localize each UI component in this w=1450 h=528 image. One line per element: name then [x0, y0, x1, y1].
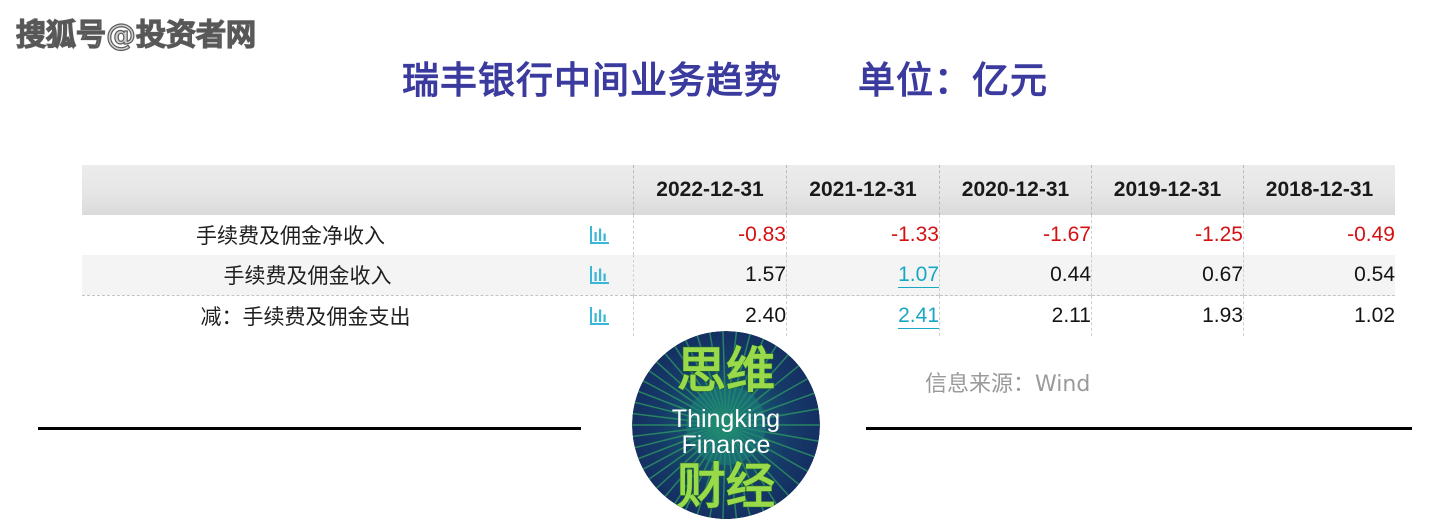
watermark-sohu: 搜狐号@投资者网: [16, 10, 256, 54]
logo-text-caijing: 财经: [677, 458, 775, 515]
cell-2019-fee-expense: 1.93: [1092, 296, 1244, 337]
row-label-less-fee-commission-expense: 减：手续费及佣金支出: [171, 301, 411, 331]
row-label-cell: 手续费及佣金收入: [82, 255, 634, 296]
logo-thingking-finance: 思维 Thingking Finance 财经: [632, 331, 820, 519]
column-header-2021[interactable]: 2021-12-31: [787, 165, 940, 215]
column-header-2022[interactable]: 2022-12-31: [634, 165, 787, 215]
cell-2018-net-fee: -0.49: [1244, 215, 1396, 255]
cell-2018-fee-expense: 1.02: [1244, 296, 1396, 337]
row-label-fee-commission-income: 手续费及佣金收入: [190, 260, 392, 290]
column-header-label: [82, 165, 634, 215]
page-title: 瑞丰银行中间业务趋势 单位：亿元: [0, 50, 1450, 104]
column-header-2018[interactable]: 2018-12-31: [1244, 165, 1396, 215]
table-row: 手续费及佣金净收入 -0.83 -1.33 -1.67 -1.25 -: [82, 215, 1395, 255]
cell-2018-fee-income: 0.54: [1244, 255, 1396, 296]
cell-2020-fee-expense: 2.11: [940, 296, 1092, 337]
table-row: 手续费及佣金收入 1.57 1.07 0.44 0.67 0.54: [82, 255, 1395, 296]
row-label-net-fee-commission-income: 手续费及佣金净收入: [196, 220, 385, 250]
cell-2021-net-fee: -1.33: [787, 215, 940, 255]
logo-text-thingking: Thingking: [672, 405, 780, 433]
divider-right: [866, 427, 1412, 430]
table-header-row: 2022-12-31 2021-12-31 2020-12-31 2019-12…: [82, 165, 1395, 215]
logo-text-finance: Finance: [682, 431, 771, 459]
cell-2019-net-fee: -1.25: [1092, 215, 1244, 255]
bar-chart-icon[interactable]: [589, 264, 611, 286]
cell-2021-fee-expense[interactable]: 2.41: [787, 296, 940, 337]
cell-2022-fee-income: 1.57: [634, 255, 787, 296]
logo-text-siwei: 思维: [677, 342, 775, 399]
row-label-cell: 手续费及佣金净收入: [82, 215, 634, 255]
cell-2020-fee-income: 0.44: [940, 255, 1092, 296]
divider-left: [38, 427, 581, 430]
cell-2020-net-fee: -1.67: [940, 215, 1092, 255]
cell-2022-net-fee: -0.83: [634, 215, 787, 255]
column-header-2019[interactable]: 2019-12-31: [1092, 165, 1244, 215]
cell-2021-fee-income-link[interactable]: 1.07: [898, 263, 939, 288]
cell-2021-fee-expense-link[interactable]: 2.41: [898, 304, 939, 329]
bar-chart-icon[interactable]: [589, 224, 611, 246]
cell-2019-fee-income: 0.67: [1092, 255, 1244, 296]
bar-chart-icon[interactable]: [589, 305, 611, 327]
table-row: 减：手续费及佣金支出 2.40 2.41 2.11 1.93 1.02: [82, 296, 1395, 337]
financial-data-table: 2022-12-31 2021-12-31 2020-12-31 2019-12…: [82, 165, 1395, 336]
source-note: 信息来源：Wind: [925, 366, 1090, 398]
column-header-2020[interactable]: 2020-12-31: [940, 165, 1092, 215]
cell-2021-fee-income[interactable]: 1.07: [787, 255, 940, 296]
cell-2022-fee-expense: 2.40: [634, 296, 787, 337]
row-label-cell: 减：手续费及佣金支出: [82, 296, 634, 337]
